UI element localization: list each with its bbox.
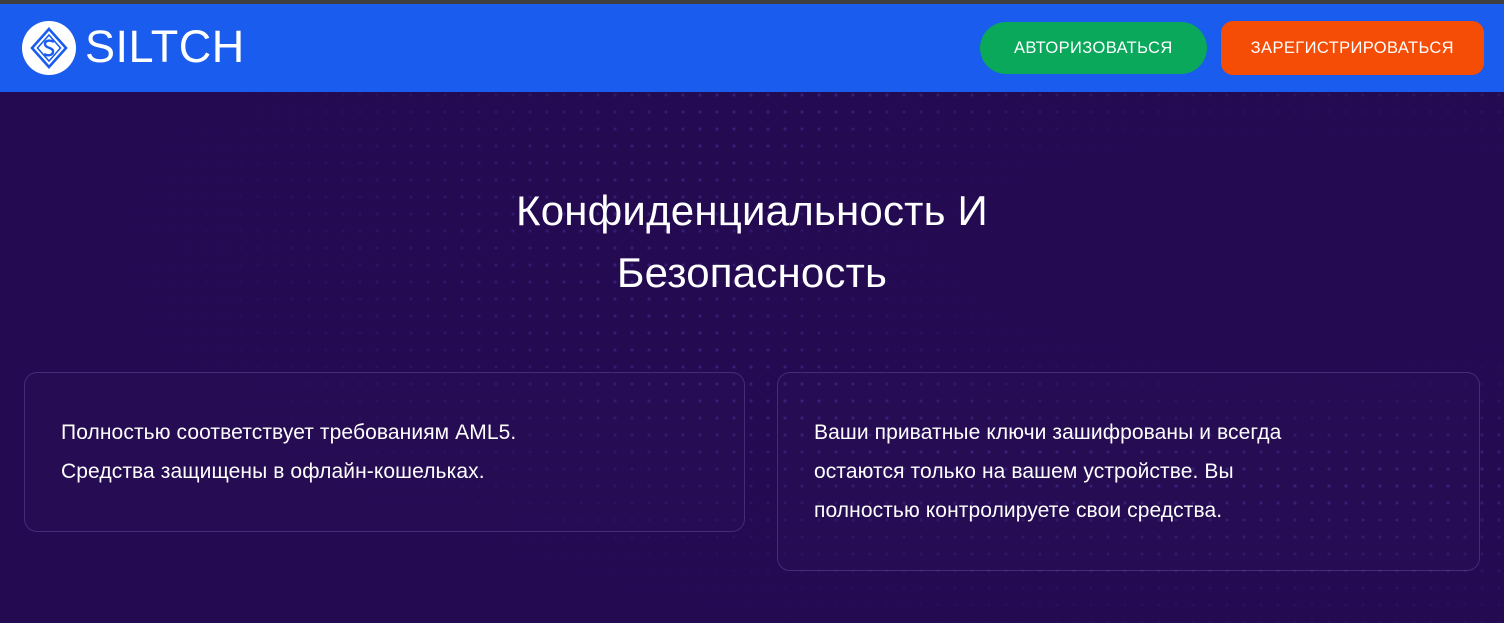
brand-logo[interactable]: SILTCH	[22, 4, 245, 92]
site-header: SILTCH АВТОРИЗОВАТЬСЯ ЗАРЕГИСТРИРОВАТЬСЯ	[0, 4, 1504, 92]
browser-viewport: SILTCH АВТОРИЗОВАТЬСЯ ЗАРЕГИСТРИРОВАТЬСЯ	[0, 0, 1504, 623]
compliance-card-line-1: Полностью соответствует требованиям AML5…	[61, 421, 516, 444]
page-title-line-2: Безопасность	[617, 249, 887, 296]
login-button[interactable]: АВТОРИЗОВАТЬСЯ	[980, 22, 1207, 74]
private-keys-card-line-3: полностью контролируете свои средства.	[814, 499, 1222, 522]
private-keys-card-line-1: Ваши приватные ключи зашифрованы и всегд…	[814, 421, 1281, 444]
brand-name: SILTCH	[85, 24, 245, 72]
info-cards-row: Полностью соответствует требованиям AML5…	[24, 372, 1480, 571]
private-keys-card: Ваши приватные ключи зашифрованы и всегд…	[777, 372, 1480, 571]
page-title-line-1: Конфиденциальность И	[516, 187, 988, 234]
private-keys-card-line-2: остаются только на вашем устройстве. Вы	[814, 460, 1234, 483]
register-button[interactable]: ЗАРЕГИСТРИРОВАТЬСЯ	[1221, 21, 1484, 75]
compliance-card: Полностью соответствует требованиям AML5…	[24, 372, 745, 532]
hero-section: Конфиденциальность И Безопасность Полнос…	[0, 92, 1504, 623]
header-actions: АВТОРИЗОВАТЬСЯ ЗАРЕГИСТРИРОВАТЬСЯ	[980, 21, 1484, 75]
page-title: Конфиденциальность И Безопасность	[0, 180, 1504, 304]
compliance-card-line-2: Средства защищены в офлайн-кошельках.	[61, 460, 485, 483]
siltch-diamond-logo-icon	[22, 21, 76, 75]
